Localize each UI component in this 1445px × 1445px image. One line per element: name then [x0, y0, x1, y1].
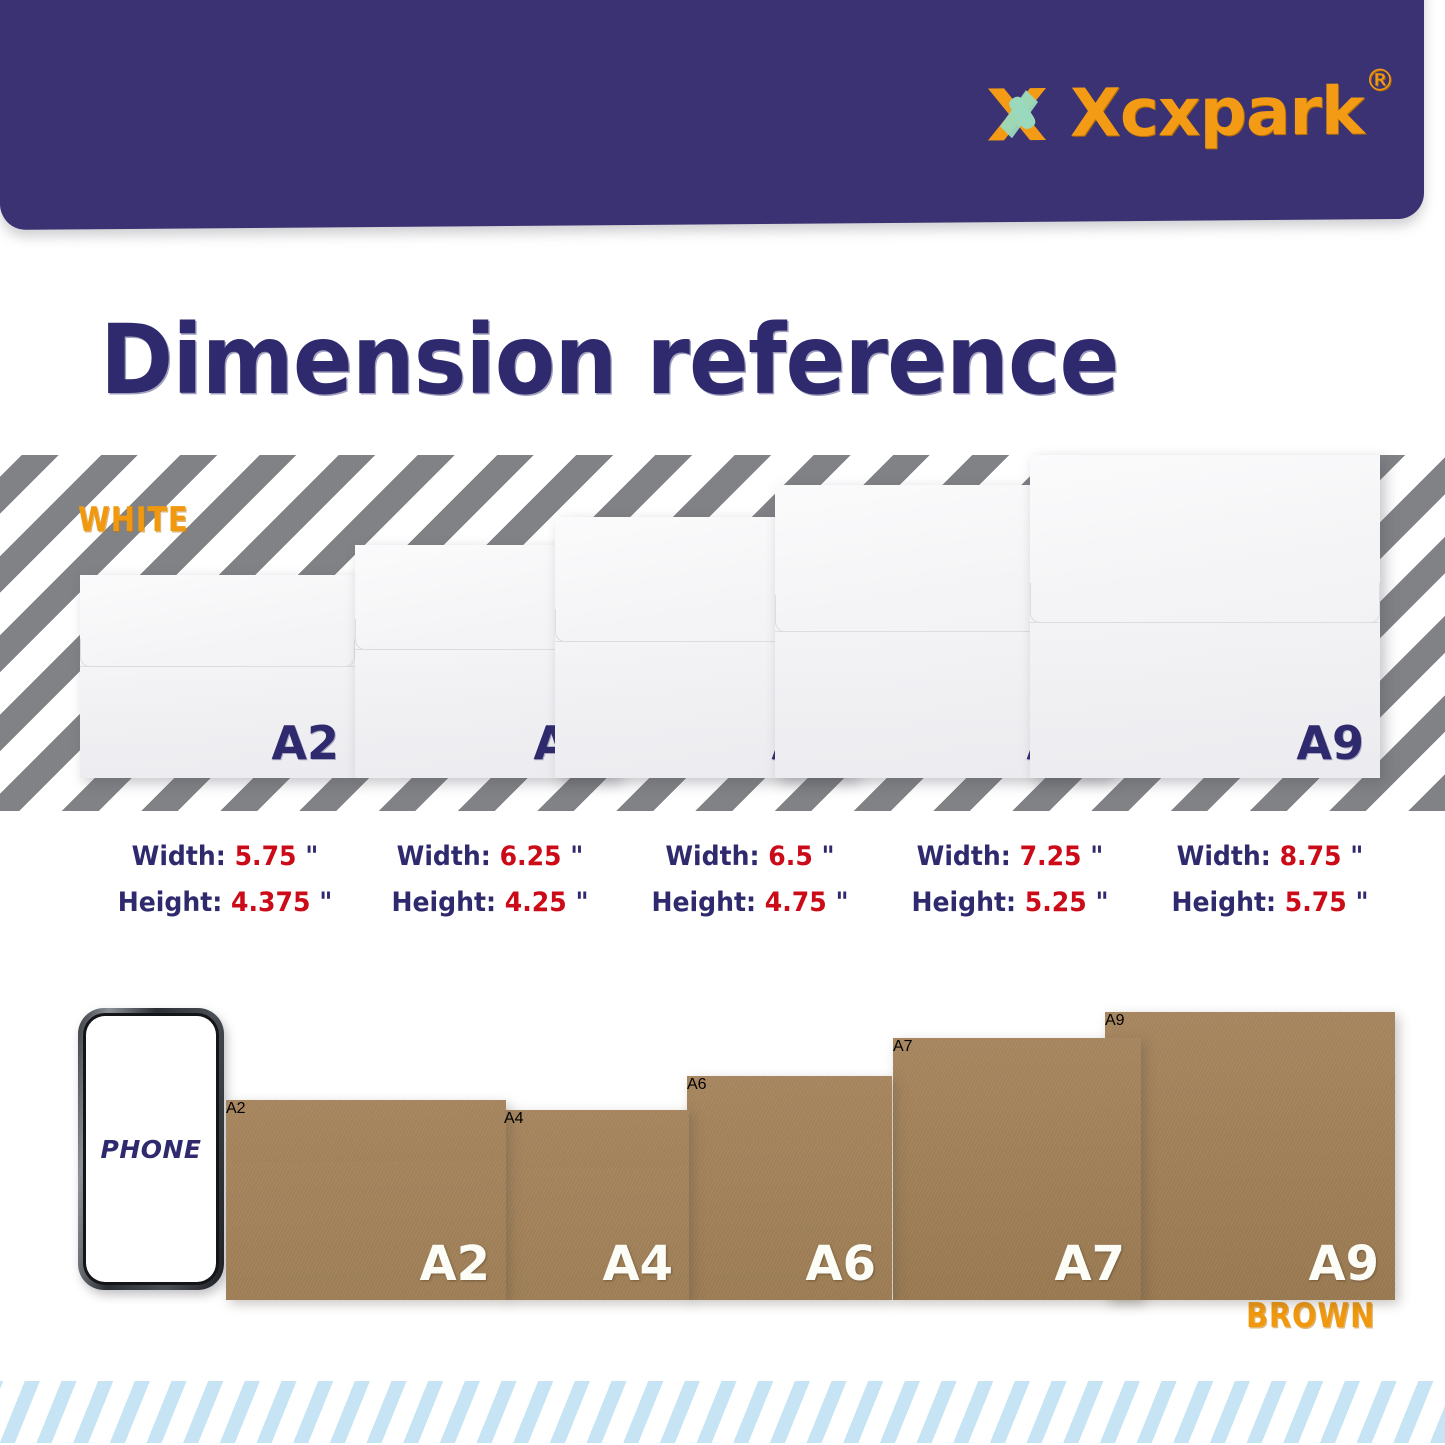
height-line: Height: 5.25 " [894, 880, 1127, 926]
brand-name-text: Xcxpark [1070, 73, 1364, 152]
white-envelope-a2: A2 [80, 575, 355, 778]
width-unit: " [822, 841, 835, 872]
envelope-flap-tab-left [80, 639, 92, 667]
height-label: Height: [391, 887, 496, 918]
envelope-flap [80, 575, 355, 667]
height-value: 4.375 [231, 887, 310, 918]
white-envelope-label: A9 [1296, 716, 1364, 770]
brown-label-a4: A4 [504, 1110, 689, 1300]
dimension-column-a9: Width: 8.75 " Height: 5.75 " [1154, 834, 1387, 926]
width-unit: " [305, 841, 318, 872]
envelope-flap-tab-left [775, 595, 790, 632]
brown-label-a6: A6 [687, 1076, 892, 1300]
width-label: Width: [397, 841, 491, 872]
width-line: Width: 5.75 " [109, 834, 342, 880]
height-unit: " [1355, 887, 1368, 918]
height-label: Height: [911, 887, 1016, 918]
width-unit: " [1350, 841, 1363, 872]
x-mark-icon [982, 82, 1052, 147]
height-line: Height: 5.75 " [1154, 880, 1387, 926]
white-envelope-a9: A9 [1030, 455, 1380, 778]
width-label: Width: [917, 841, 1011, 872]
dimension-column-a2: Width: 5.75 " Height: 4.375 " [109, 834, 342, 926]
envelope-flap-tab-right [1364, 583, 1380, 623]
white-envelope-group: A2 A4 A6 A7 [0, 455, 1445, 811]
height-value: 4.75 [765, 887, 827, 918]
page-title: Dimension reference [100, 312, 1118, 408]
brown-label-a9: A9 [1105, 1012, 1395, 1300]
height-value: 4.25 [505, 887, 567, 918]
width-value: 5.75 [235, 841, 297, 872]
brown-section-label: BROWN [1246, 1296, 1375, 1336]
envelope-flap-tab-left [1030, 583, 1046, 623]
width-line: Width: 6.25 " [374, 834, 607, 880]
registered-trademark-icon: ® [1365, 66, 1394, 96]
brand-logo: Xcxpark® [982, 79, 1364, 148]
envelope-flap-tab-left [555, 609, 569, 642]
height-label: Height: [651, 887, 756, 918]
brand-name: Xcxpark® [1070, 79, 1364, 147]
height-line: Height: 4.375 " [109, 880, 342, 926]
brown-label-a7: A7 [893, 1038, 1141, 1300]
brown-label-a2: A2 [226, 1100, 506, 1300]
height-value: 5.75 [1285, 887, 1347, 918]
width-label: Width: [1177, 841, 1271, 872]
height-line: Height: 4.75 " [634, 880, 867, 926]
width-unit: " [570, 841, 583, 872]
width-value: 7.25 [1020, 841, 1082, 872]
envelope-flap-tab-left [355, 619, 368, 650]
height-unit: " [575, 887, 588, 918]
header-banner: Xcxpark® [0, 0, 1424, 230]
dimension-text-group: Width: 5.75 " Height: 4.375 " Width: 6.2… [0, 834, 1445, 934]
width-line: Width: 6.5 " [634, 834, 867, 880]
dimension-column-a4: Width: 6.25 " Height: 4.25 " [374, 834, 607, 926]
height-value: 5.25 [1025, 887, 1087, 918]
width-unit: " [1090, 841, 1103, 872]
height-unit: " [319, 887, 332, 918]
dimension-column-a6: Width: 6.5 " Height: 4.75 " [634, 834, 867, 926]
width-value: 8.75 [1280, 841, 1342, 872]
width-label: Width: [132, 841, 226, 872]
dimension-column-a7: Width: 7.25 " Height: 5.25 " [894, 834, 1127, 926]
height-label: Height: [118, 887, 223, 918]
height-label: Height: [1171, 887, 1276, 918]
white-envelope-label: A2 [271, 716, 339, 770]
brown-envelope-label-overlay: A2 A4 A6 A7 A9 [0, 1000, 1445, 1300]
height-unit: " [1095, 887, 1108, 918]
width-line: Width: 8.75 " [1154, 834, 1387, 880]
height-unit: " [835, 887, 848, 918]
width-value: 6.5 [768, 841, 812, 872]
width-label: Width: [665, 841, 759, 872]
envelope-flap [1030, 455, 1380, 623]
height-line: Height: 4.25 " [374, 880, 607, 926]
white-section-label: WHITE [78, 500, 189, 540]
width-value: 6.25 [500, 841, 562, 872]
width-line: Width: 7.25 " [894, 834, 1127, 880]
infographic-page: Xcxpark® Dimension reference A2 A4 [0, 0, 1445, 1445]
blue-stripe-band [0, 1381, 1445, 1443]
